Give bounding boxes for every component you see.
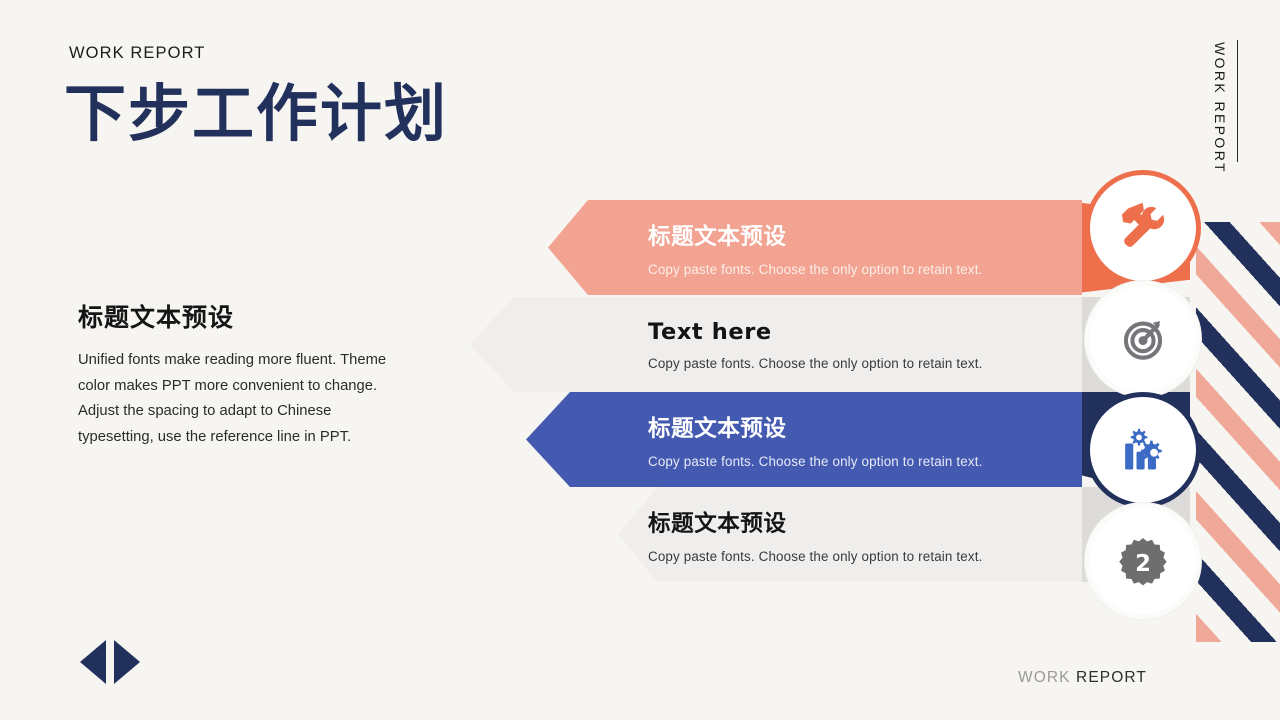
left-panel-body: Unified fonts make reading more fluent. …: [78, 348, 408, 450]
arrow-row-2[interactable]: Text here Copy paste fonts. Choose the o…: [470, 297, 1190, 392]
slide-navigation[interactable]: [80, 640, 140, 684]
arrow-row-4-text: 标题文本预设 Copy paste fonts. Choose the only…: [648, 487, 982, 582]
arrow-row-1-title: 标题文本预设: [648, 219, 982, 251]
bar-chart-gears-icon: [1117, 424, 1169, 476]
arrow-row-3-text: 标题文本预设 Copy paste fonts. Choose the only…: [648, 392, 982, 487]
arrow-row-2-subtitle: Copy paste fonts. Choose the only option…: [648, 356, 982, 371]
footer-word-work: WORK: [1018, 669, 1071, 686]
svg-text:2: 2: [1135, 551, 1151, 577]
slide-canvas: WORK REPORT 下步工作计划 WORK REPORT 标题文本预设 Un…: [0, 0, 1280, 720]
arrow-row-2-text: Text here Copy paste fonts. Choose the o…: [648, 297, 982, 392]
icon-circle-4[interactable]: 2: [1085, 503, 1201, 619]
icon-circle-2[interactable]: [1085, 281, 1201, 397]
arrow-row-3-title: 标题文本预设: [648, 411, 982, 443]
footer-brand: WORK REPORT: [1018, 669, 1147, 687]
badge-seal-two-icon: 2: [1117, 535, 1169, 587]
diagonal-stripes-decoration: [1196, 222, 1280, 642]
footer-word-report: REPORT: [1076, 669, 1147, 686]
left-panel-heading: 标题文本预设: [78, 298, 234, 334]
arrow-row-1-text: 标题文本预设 Copy paste fonts. Choose the only…: [648, 200, 982, 295]
arrow-row-3-subtitle: Copy paste fonts. Choose the only option…: [648, 454, 982, 469]
target-dartboard-icon: [1117, 313, 1169, 365]
arrow-row-2-title: Text here: [648, 319, 982, 345]
prev-arrow-icon[interactable]: [80, 640, 106, 684]
eyebrow-label: WORK REPORT: [69, 44, 205, 63]
arrow-row-1-subtitle: Copy paste fonts. Choose the only option…: [648, 262, 982, 277]
arrow-row-4-title: 标题文本预设: [648, 506, 982, 538]
tools-hammer-wrench-icon: [1117, 202, 1169, 254]
vertical-divider: [1237, 40, 1238, 162]
icon-circle-1[interactable]: [1085, 170, 1201, 286]
icon-circle-3[interactable]: [1085, 392, 1201, 508]
page-title: 下步工作计划: [64, 80, 448, 148]
arrow-row-4-subtitle: Copy paste fonts. Choose the only option…: [648, 549, 982, 564]
next-arrow-icon[interactable]: [114, 640, 140, 684]
vertical-side-label: WORK REPORT: [1212, 42, 1228, 174]
